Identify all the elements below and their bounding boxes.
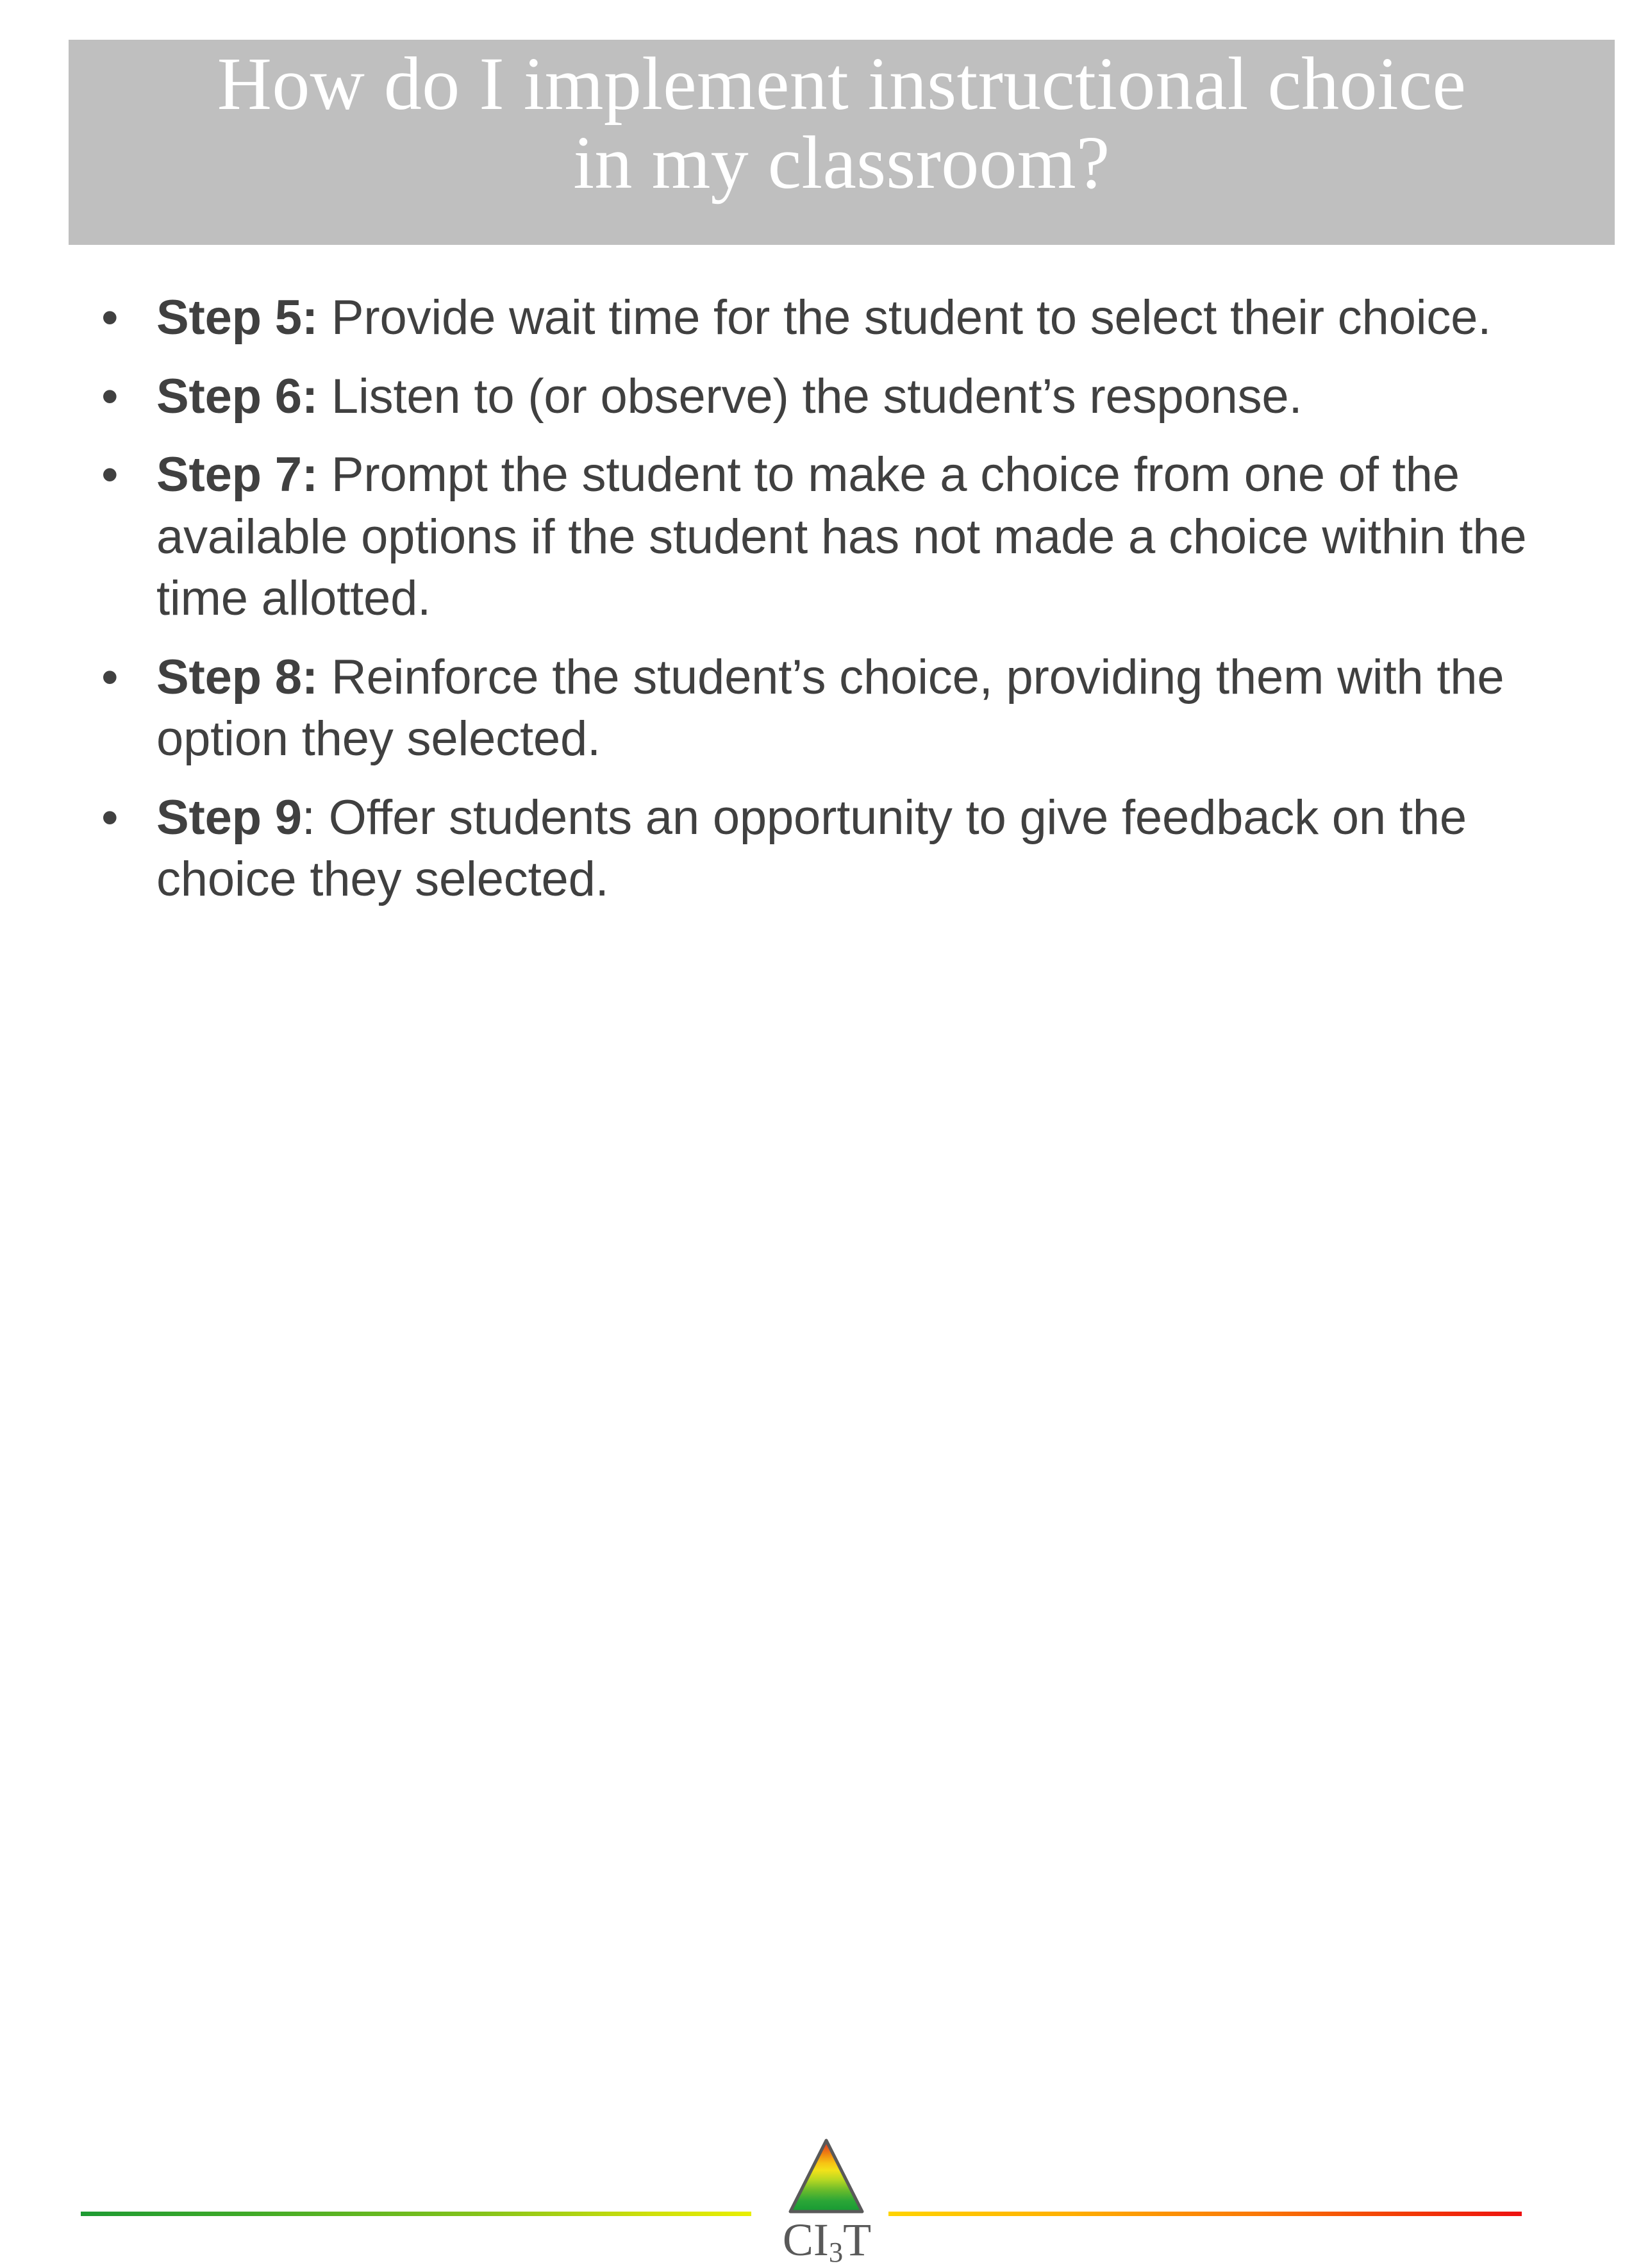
step-body: : Offer students an opportunity to give … — [156, 790, 1467, 907]
list-item: • Step 6: Listen to (or observe) the stu… — [90, 366, 1545, 428]
page-title: How do I implement instructional choice … — [95, 40, 1588, 202]
step-label: Step 5: — [156, 290, 318, 345]
step-label: Step 6: — [156, 369, 318, 424]
list-item: • Step 9: Offer students an opportunity … — [90, 787, 1545, 911]
bullet-point-icon: • — [90, 444, 156, 506]
wordmark-t: T — [843, 2214, 871, 2265]
list-item-text: Step 8: Reinforce the student’s choice, … — [156, 647, 1545, 771]
ci3t-triangle-icon — [787, 2137, 865, 2215]
slide-footer: CI3T — [0, 1064, 1641, 1231]
wordmark-three: 3 — [829, 2236, 843, 2268]
bullet-point-icon: • — [90, 787, 156, 849]
footer-rule-left — [81, 2212, 751, 2216]
ci3t-wordmark: CI3T — [756, 2217, 897, 2263]
list-item: • Step 5: Provide wait time for the stud… — [90, 287, 1545, 349]
wordmark-ci: CI — [783, 2214, 829, 2265]
step-body: Prompt the student to make a choice from… — [156, 447, 1527, 626]
step-body: Reinforce the student’s choice, providin… — [156, 650, 1504, 767]
list-item-text: Step 6: Listen to (or observe) the stude… — [156, 366, 1545, 428]
step-label: Step 8: — [156, 650, 318, 705]
list-item: • Step 8: Reinforce the student’s choice… — [90, 647, 1545, 771]
footer-rule-right — [888, 2212, 1522, 2216]
step-body: Provide wait time for the student to sel… — [318, 290, 1491, 345]
bullet-point-icon: • — [90, 647, 156, 709]
step-label: Step 9 — [156, 790, 302, 845]
bullet-point-icon: • — [90, 366, 156, 428]
step-body: Listen to (or observe) the student’s res… — [318, 369, 1302, 424]
list-item-text: Step 5: Provide wait time for the studen… — [156, 287, 1545, 349]
list-item-text: Step 9: Offer students an opportunity to… — [156, 787, 1545, 911]
slide-title-band: How do I implement instructional choice … — [69, 40, 1615, 245]
step-label: Step 7: — [156, 447, 318, 502]
bullet-list: • Step 5: Provide wait time for the stud… — [90, 287, 1545, 928]
bullet-point-icon: • — [90, 287, 156, 349]
list-item-text: Step 7: Prompt the student to make a cho… — [156, 444, 1545, 630]
list-item: • Step 7: Prompt the student to make a c… — [90, 444, 1545, 630]
